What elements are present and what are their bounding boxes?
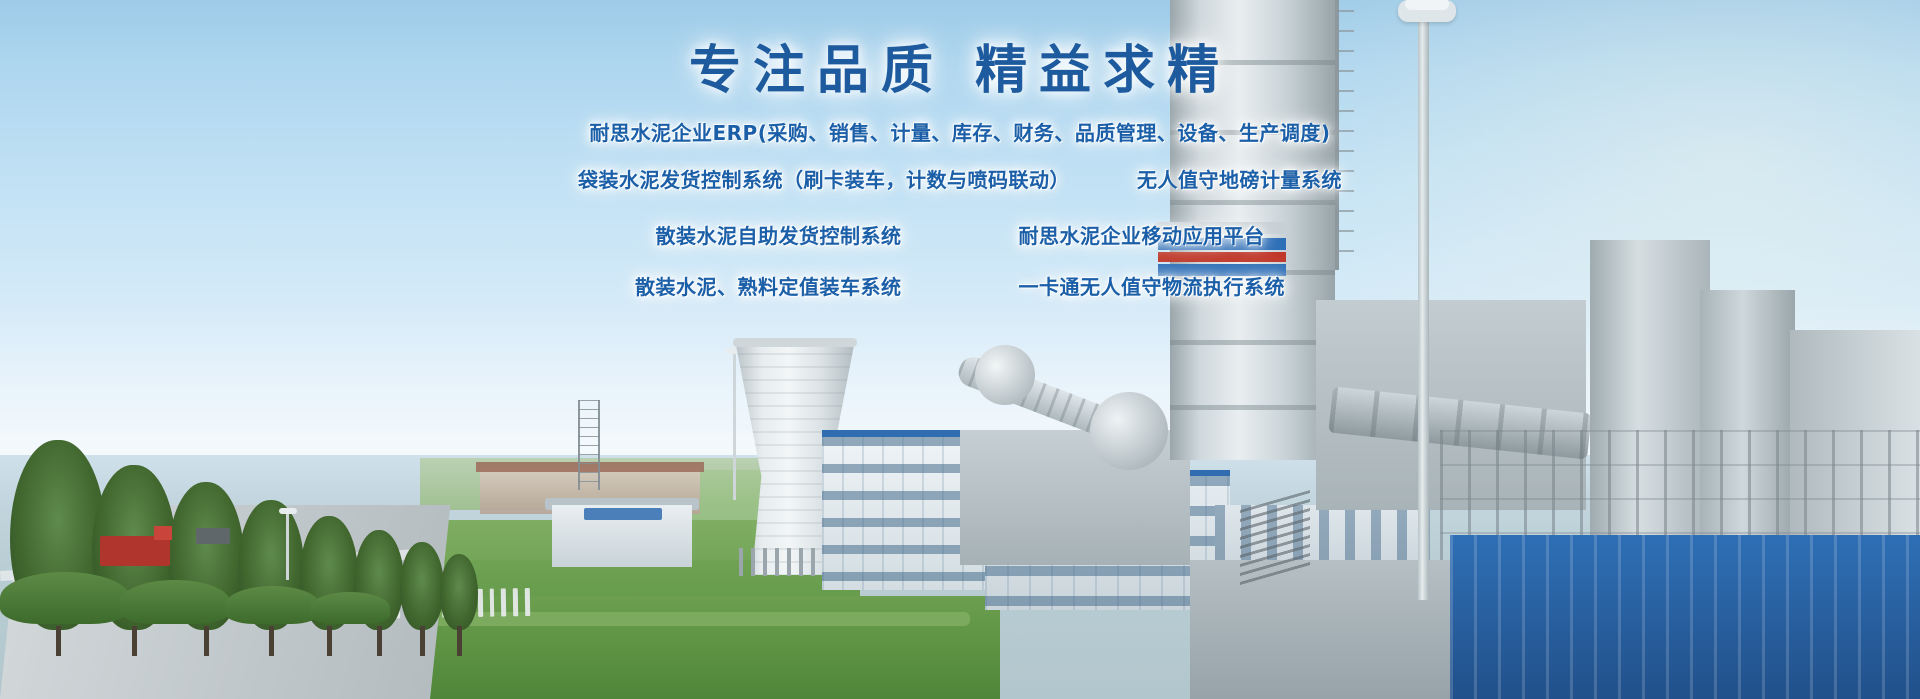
grey-vehicle (196, 528, 230, 544)
grey-warehouse-wall (1190, 560, 1490, 699)
blue-roof-ribs (1450, 535, 1920, 699)
duct-elbow-lower (1090, 392, 1168, 470)
tall-street-lamp-lens (1405, 0, 1449, 10)
mast-pole (1335, 0, 1339, 270)
red-truck (100, 536, 170, 566)
gatehouse-sign (584, 508, 662, 520)
silo-stripe-blue-lower (1158, 264, 1286, 276)
street-lamp-near (733, 352, 736, 500)
silo-stripe-blue-upper (1158, 238, 1286, 250)
silo-stripe-red (1158, 252, 1286, 262)
duct-elbow-upper (975, 345, 1035, 405)
cooling-tower-rim (733, 338, 857, 347)
transmission-pylon (578, 400, 600, 490)
tall-street-lamp-pole (1418, 0, 1429, 600)
hero-banner: 专注品质 精益求精 耐思水泥企业ERP(采购、销售、计量、库存、财务、品质管理、… (0, 0, 1920, 699)
tree-row (0, 330, 560, 630)
street-lamp-far (286, 512, 289, 580)
